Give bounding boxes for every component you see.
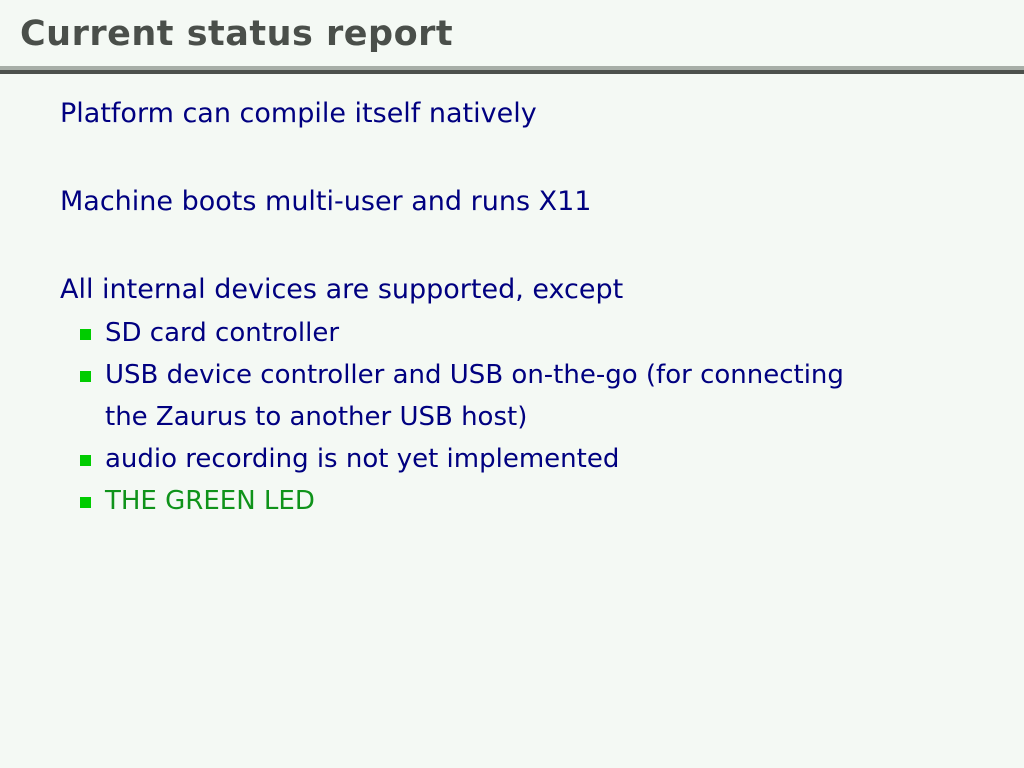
title-separator-rule — [0, 66, 1024, 74]
list-item: THE GREEN LED — [80, 480, 850, 522]
list-item-label: audio recording is not yet implemented — [105, 444, 619, 474]
paragraph-spacer-1 — [0, 136, 1024, 180]
statement-line-2: Machine boots multi-user and runs X11 — [60, 180, 1024, 224]
rule-shadow-band — [0, 70, 1024, 74]
list-item-label: SD card controller — [105, 318, 339, 348]
exception-bullet-list: SD card controller USB device controller… — [0, 312, 1024, 522]
slide: Current status report Platform can compi… — [0, 0, 1024, 768]
square-bullet-icon — [80, 497, 91, 508]
list-item-label: THE GREEN LED — [105, 486, 315, 516]
list-item: USB device controller and USB on-the-go … — [80, 354, 850, 438]
square-bullet-icon — [80, 371, 91, 382]
paragraph-spacer-2 — [0, 224, 1024, 268]
statement-line-1: Platform can compile itself natively — [60, 92, 1024, 136]
list-item: SD card controller — [80, 312, 850, 354]
list-item-label: USB device controller and USB on-the-go … — [105, 360, 844, 432]
statement-line-3: All internal devices are supported, exce… — [60, 268, 1024, 312]
page-title: Current status report — [20, 12, 453, 56]
slide-body: Platform can compile itself natively Mac… — [0, 92, 1024, 522]
square-bullet-icon — [80, 455, 91, 466]
square-bullet-icon — [80, 329, 91, 340]
list-item: audio recording is not yet implemented — [80, 438, 850, 480]
